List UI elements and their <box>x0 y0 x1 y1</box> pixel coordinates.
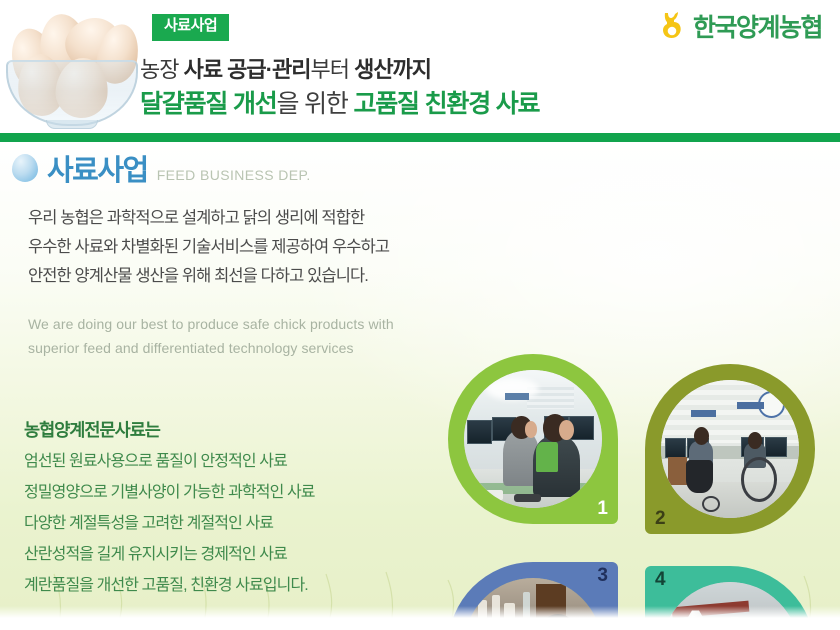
header-divider <box>0 133 840 142</box>
photo-thumbnail-1[interactable]: 1 <box>448 354 618 524</box>
feature-item: 계란품질을 개선한 고품질, 친환경 사료입니다. <box>24 570 315 601</box>
blue-drop-icon <box>12 154 38 182</box>
header-title-line1-bold2: 생산까지 <box>354 57 431 82</box>
features-list: 농협양계전문사료는 엄선된 원료사용으로 품질이 안정적인 사료 정밀영양으로 … <box>24 414 315 601</box>
intro-en-line: We are doing our best to produce safe ch… <box>28 312 394 336</box>
photo-thumbnail-2[interactable]: 2 <box>645 364 815 534</box>
header-title-line2-dark: 을 위한 <box>277 90 354 118</box>
feed-business-page: 사료사업 농장 사료 공급·관리부터 생산까지 달걀품질 개선을 위한 고품질 … <box>0 0 840 630</box>
header-title-line1-part1: 농장 <box>140 57 184 82</box>
header-title-line1-bold1: 사료 공급·관리 <box>184 57 311 82</box>
content-area: 사료사업 FEED BUSINESS DEP. 우리 농협은 과학적으로 설계하… <box>0 142 840 618</box>
photo-number-1: 1 <box>597 498 608 520</box>
glass-bowl <box>6 60 138 126</box>
intro-ko-line: 안전한 양계산물 생산을 위해 최선을 다하고 있습니다. <box>28 262 389 291</box>
brand-logo-text: 한국양계농협 <box>693 8 822 44</box>
intro-ko-line: 우리 농협은 과학적으로 설계하고 닭의 생리에 적합한 <box>28 204 389 233</box>
header-title-line2-green1: 달걀품질 개선 <box>140 90 277 118</box>
header-title-line2: 달걀품질 개선을 위한 고품질 친환경 사료 <box>140 84 539 120</box>
egg-bowl-image <box>6 2 138 130</box>
section-title: 사료사업 FEED BUSINESS DEP. <box>12 154 311 186</box>
footer-strip <box>0 618 840 630</box>
header-title-line1: 농장 사료 공급·관리부터 생산까지 <box>140 52 431 84</box>
header-title-line2-green2: 고품질 친환경 사료 <box>353 90 539 118</box>
feature-item: 엄선된 원료사용으로 품질이 안정적인 사료 <box>24 446 315 477</box>
photo-image-2 <box>661 380 799 518</box>
content-bottom-fade <box>0 606 840 618</box>
intro-ko-line: 우수한 사료와 차별화된 기술서비스를 제공하여 우수하고 <box>28 233 389 262</box>
section-title-korean: 사료사업 <box>47 157 148 186</box>
feature-item: 산란성적을 길게 유지시키는 경제적인 사료 <box>24 539 315 570</box>
photo-ring-1 <box>448 354 618 524</box>
photo-image-1 <box>464 370 602 508</box>
photo-number-4: 4 <box>655 569 666 591</box>
poultry-cooperative-symbol-icon <box>661 11 687 41</box>
feature-item: 다양한 계절특성을 고려한 계절적인 사료 <box>24 508 315 539</box>
intro-paragraph-english: We are doing our best to produce safe ch… <box>28 312 394 360</box>
page-header: 사료사업 농장 사료 공급·관리부터 생산까지 달걀품질 개선을 위한 고품질 … <box>0 0 840 135</box>
glass-bowl-foot <box>46 120 98 129</box>
header-title-line1-part2: 부터 <box>310 57 354 82</box>
intro-paragraph-korean: 우리 농협은 과학적으로 설계하고 닭의 생리에 적합한 우수한 사료와 차별화… <box>28 204 389 291</box>
features-heading: 농협양계전문사료는 <box>24 414 315 446</box>
photo-number-3: 3 <box>597 565 608 587</box>
photo-number-2: 2 <box>655 508 666 530</box>
feature-item: 정밀영양으로 기별사양이 가능한 과학적인 사료 <box>24 477 315 508</box>
intro-en-line: superior feed and differentiated technol… <box>28 336 394 360</box>
section-title-english: FEED BUSINESS DEP. <box>157 168 311 182</box>
photo-ring-2 <box>645 364 815 534</box>
header-badge: 사료사업 <box>152 14 229 41</box>
brand-logo: 한국양계농협 <box>661 8 822 44</box>
